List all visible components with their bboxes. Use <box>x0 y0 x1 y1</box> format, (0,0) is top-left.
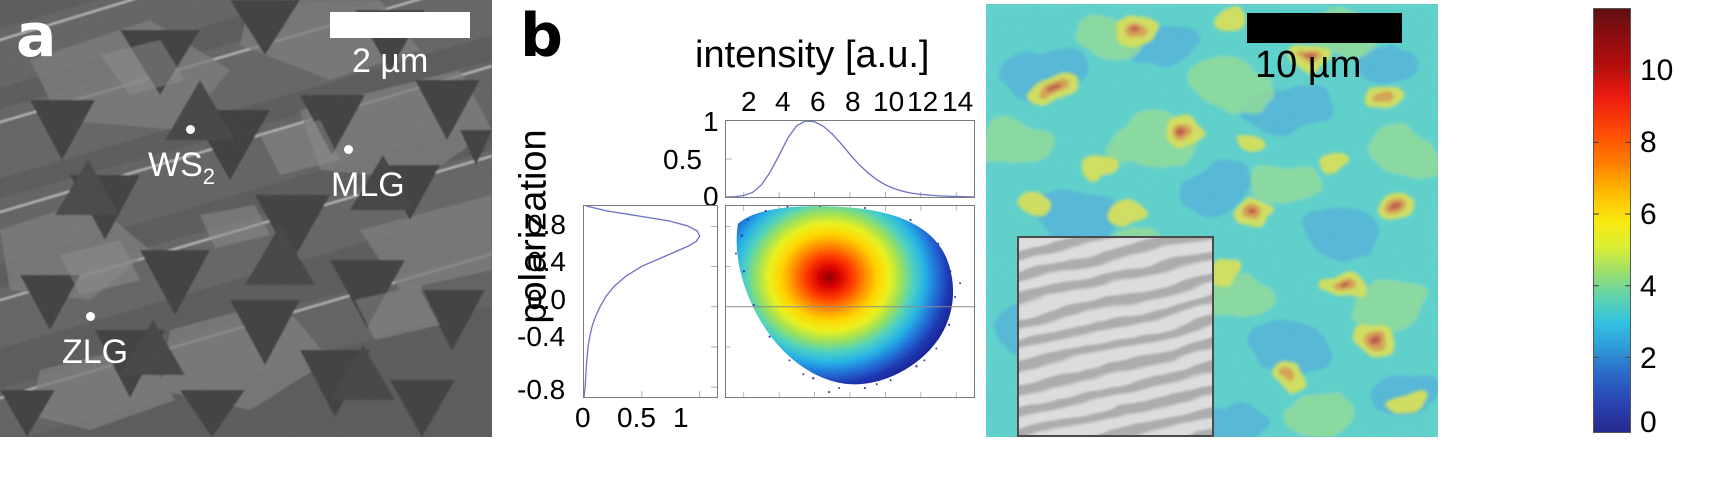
top-hist-ytick-1: 1 <box>703 108 719 136</box>
marker-dot-ws2 <box>186 125 195 134</box>
ytick-0p4: 0.4 <box>527 248 566 276</box>
top-marginal-histogram-curve <box>726 121 974 197</box>
colorbar-tick-10: 10 <box>1640 56 1673 86</box>
colorbar-gradient <box>1594 9 1630 432</box>
colorbar-pl-intensity <box>1593 8 1631 433</box>
panel-b-x-axis-title: intensity [a.u.] <box>695 34 929 77</box>
panel-letter-a: a <box>16 6 56 66</box>
panel-c-inset-image <box>1017 236 1214 437</box>
joint-density-scatter-graphic <box>726 206 974 397</box>
figure-root: 2 µm WS2 MLG ZLG a b intensity [a.u.] po… <box>0 0 1720 490</box>
left-marginal-histogram-curve <box>584 206 717 397</box>
xtick-8: 8 <box>845 88 861 116</box>
marker-dot-mlg <box>344 145 353 154</box>
xtick-4: 4 <box>775 88 791 116</box>
marker-label-mlg: MLG <box>331 168 405 202</box>
left-marginal-histogram <box>583 205 718 398</box>
scalebar-panel-c-label: 10 µm <box>1255 46 1361 84</box>
xtick-12: 12 <box>907 88 938 116</box>
colorbar-tick-6: 6 <box>1640 200 1657 230</box>
ytick-m0p4: -0.4 <box>517 323 565 351</box>
marker-dot-zlg <box>86 312 95 321</box>
colorbar-tick-8: 8 <box>1640 128 1657 158</box>
left-hist-xtick-1: 1 <box>673 404 689 432</box>
colorbar-tick-2: 2 <box>1640 344 1657 374</box>
xtick-2: 2 <box>741 88 757 116</box>
top-hist-ytick-05: 0.5 <box>663 146 702 174</box>
panel-a-sem-image: 2 µm WS2 MLG ZLG <box>0 0 492 437</box>
left-hist-xtick-0: 0 <box>575 404 591 432</box>
joint-density-scatter <box>725 205 975 398</box>
ytick-m0p8: -0.8 <box>517 376 565 404</box>
inset-stripe-texture <box>1019 238 1212 435</box>
marker-label-ws2: WS2 <box>148 148 215 188</box>
left-hist-xtick-05: 0.5 <box>617 404 656 432</box>
scalebar-panel-c <box>1247 13 1402 43</box>
panel-b-joint-plot: intensity [a.u.] polarization 2 4 6 8 10… <box>495 0 985 440</box>
xtick-10: 10 <box>873 88 904 116</box>
ytick-0p0: 0.0 <box>527 286 566 314</box>
scalebar-panel-a <box>330 12 470 38</box>
marker-label-zlg: ZLG <box>62 335 128 369</box>
xtick-6: 6 <box>810 88 826 116</box>
xtick-14: 14 <box>942 88 973 116</box>
top-marginal-histogram <box>725 120 975 198</box>
colorbar-tick-4: 4 <box>1640 272 1657 302</box>
colorbar-tick-0: 0 <box>1640 408 1657 438</box>
ytick-0p8: 0.8 <box>527 211 566 239</box>
scalebar-panel-a-label: 2 µm <box>352 44 428 78</box>
